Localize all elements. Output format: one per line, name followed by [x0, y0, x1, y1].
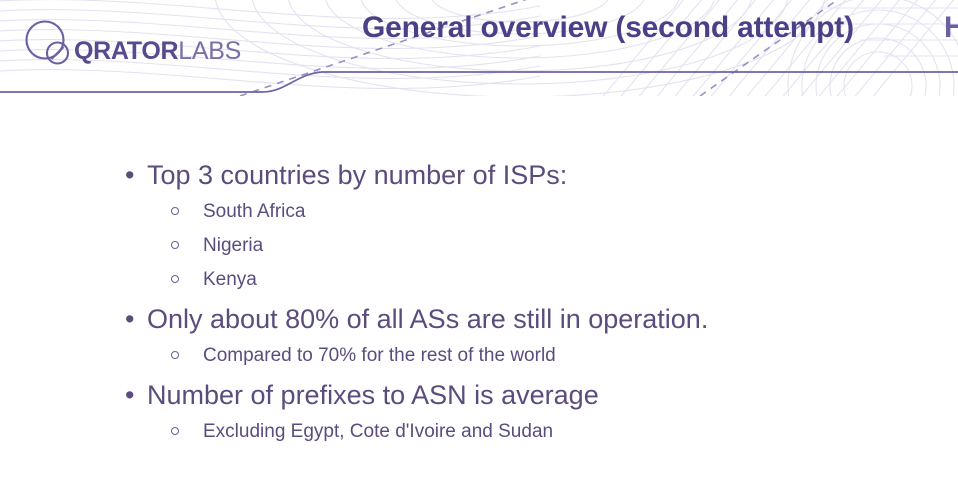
bullet-marker-icon: •: [120, 378, 147, 412]
bullet-item-level2: Compared to 70% for the rest of the worl…: [120, 344, 940, 378]
bullet-text-level2: Excluding Egypt, Cote d'Ivoire and Sudan: [203, 420, 940, 444]
hollow-circle-bullet-icon: [168, 268, 203, 292]
presentation-slide: QRATORLABS General overview (second atte…: [0, 0, 958, 491]
bullet-marker-icon: •: [120, 158, 147, 192]
bullet-item-level2: Kenya: [120, 268, 940, 302]
bullet-text-level2: Kenya: [203, 268, 940, 292]
bullet-item-level1: • Top 3 countries by number of ISPs:: [120, 158, 940, 200]
bullet-item-level2: Nigeria: [120, 234, 940, 268]
hollow-circle-bullet-icon: [168, 420, 203, 444]
bullet-text-level1: Top 3 countries by number of ISPs:: [147, 158, 940, 192]
bullet-item-level1: • Number of prefixes to ASN is average: [120, 378, 940, 420]
bullet-marker-icon: •: [120, 302, 147, 336]
hollow-circle-bullet-icon: [168, 200, 203, 224]
hollow-circle-bullet-icon: [168, 344, 203, 368]
logo-word-qrator: QRATOR: [74, 37, 178, 65]
logo-wordmark: QRATORLABS: [74, 39, 241, 64]
hollow-circle-bullet-icon: [168, 234, 203, 258]
slide-header: QRATORLABS General overview (second atte…: [0, 0, 958, 96]
slide-title: General overview (second attempt): [362, 6, 958, 50]
bullet-group: • Number of prefixes to ASN is average E…: [120, 378, 940, 454]
bullet-group: • Only about 80% of all ASs are still in…: [120, 302, 940, 378]
qrator-labs-logo[interactable]: QRATORLABS: [22, 18, 241, 70]
bullet-item-level2: South Africa: [120, 200, 940, 234]
logo-word-labs: LABS: [178, 37, 241, 65]
slide-body: • Top 3 countries by number of ISPs: Sou…: [0, 96, 958, 491]
bullet-item-level1: • Only about 80% of all ASs are still in…: [120, 302, 940, 344]
header-cutoff-glyph: H: [944, 6, 958, 50]
bullet-item-level2: Excluding Egypt, Cote d'Ivoire and Sudan: [120, 420, 940, 454]
bullet-text-level2: Nigeria: [203, 234, 940, 258]
bullet-list: • Top 3 countries by number of ISPs: Sou…: [120, 158, 940, 454]
bullet-group: • Top 3 countries by number of ISPs: Sou…: [120, 158, 940, 302]
qrator-circle-slash-logo-icon: [22, 19, 76, 69]
bullet-text-level1: Only about 80% of all ASs are still in o…: [147, 302, 940, 336]
bullet-text-level2: Compared to 70% for the rest of the worl…: [203, 344, 940, 368]
bullet-text-level2: South Africa: [203, 200, 940, 224]
bullet-text-level1: Number of prefixes to ASN is average: [147, 378, 940, 412]
